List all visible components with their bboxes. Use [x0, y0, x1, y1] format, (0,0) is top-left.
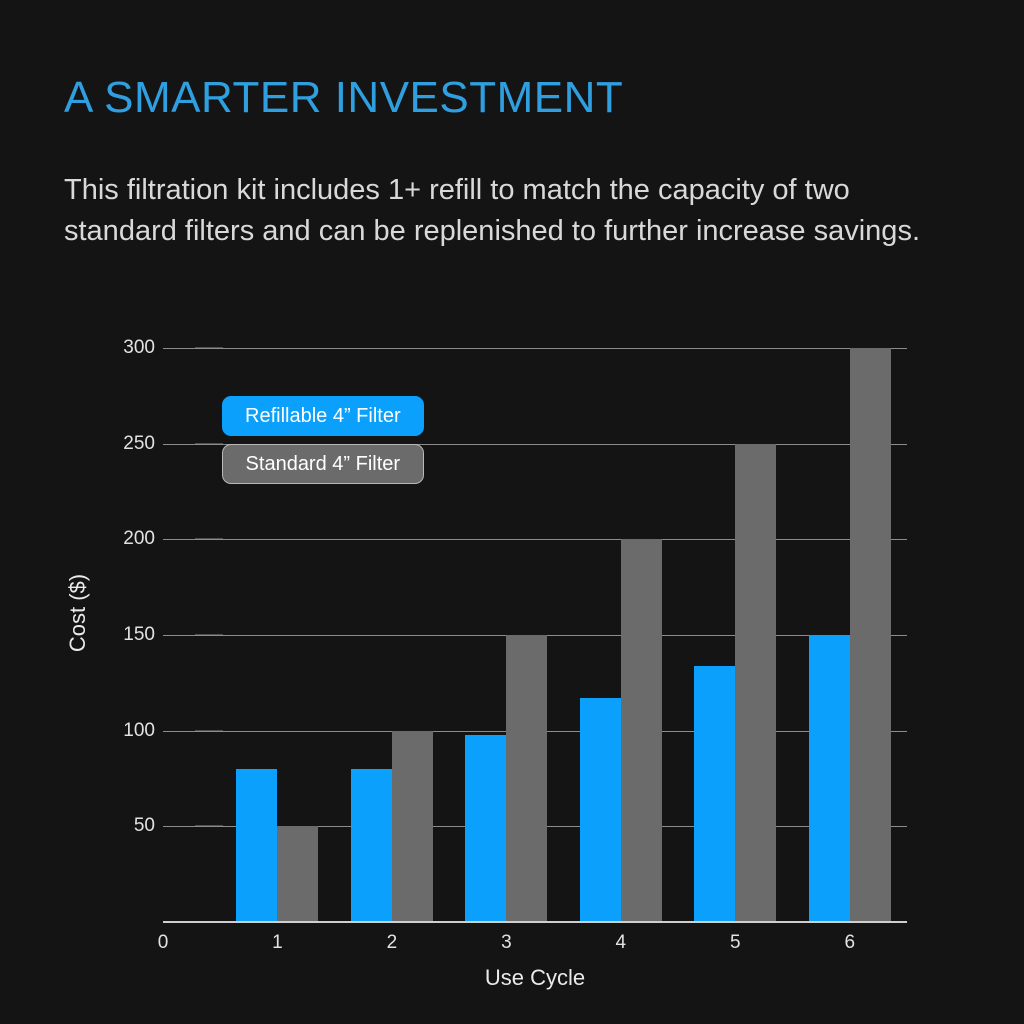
bar-standard-cycle-2 — [392, 731, 433, 922]
y-axis-title: Cost ($) — [65, 523, 91, 703]
bar-refillable-cycle-3 — [465, 735, 506, 923]
x-axis-tick-label: 4 — [616, 932, 627, 954]
bar-standard-cycle-6 — [850, 348, 891, 922]
x-axis-tick-label: 6 — [844, 932, 855, 954]
y-axis-tick-label: 250 — [123, 433, 155, 455]
x-axis-tick-label: 1 — [272, 932, 283, 954]
bar-standard-cycle-3 — [506, 635, 547, 922]
x-axis-tick-label: 3 — [501, 932, 512, 954]
x-axis-tick-label: 2 — [387, 932, 398, 954]
legend-item-standard[interactable]: Standard 4” Filter — [222, 444, 424, 484]
y-axis-tick-label: 200 — [123, 528, 155, 550]
bar-standard-cycle-1 — [277, 826, 318, 922]
cost-comparison-bar-chart: 50100150200250300 Cost ($) Use Cycle Ref… — [0, 0, 1024, 1024]
y-axis-tick-label: 150 — [123, 624, 155, 646]
gridline — [163, 539, 907, 540]
bar-refillable-cycle-6 — [809, 635, 850, 922]
y-axis-tick-label: 100 — [123, 720, 155, 742]
y-axis-tick-label: 50 — [134, 815, 155, 837]
bar-standard-cycle-5 — [735, 444, 776, 922]
y-axis-ticks: 50100150200250300 — [60, 0, 155, 1024]
bar-refillable-cycle-5 — [694, 666, 735, 922]
chart-legend: Refillable 4” Filter Standard 4” Filter — [222, 396, 424, 484]
bar-refillable-cycle-2 — [351, 769, 392, 922]
bar-standard-cycle-4 — [621, 539, 662, 922]
legend-item-refillable[interactable]: Refillable 4” Filter — [222, 396, 424, 436]
bar-refillable-cycle-4 — [580, 698, 621, 922]
y-axis-tick-label: 300 — [123, 337, 155, 359]
x-axis-tick-label: 5 — [730, 932, 741, 954]
x-axis-tick-label: 0 — [158, 932, 169, 954]
gridline — [163, 348, 907, 349]
x-axis-title: Use Cycle — [163, 965, 907, 991]
x-axis-line — [163, 921, 907, 923]
bar-refillable-cycle-1 — [236, 769, 277, 922]
